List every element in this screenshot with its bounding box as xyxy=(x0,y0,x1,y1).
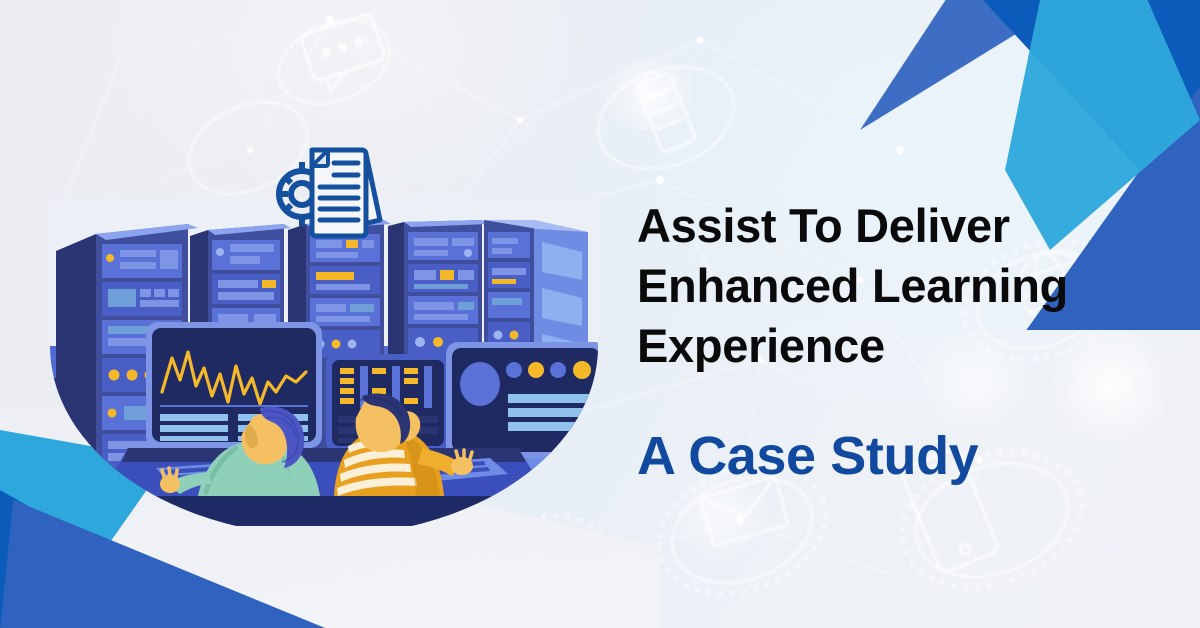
headline-line-2: Enhanced Learning xyxy=(637,256,1157,316)
headline: Assist To Deliver Enhanced Learning Expe… xyxy=(637,196,1157,376)
battery-icon xyxy=(634,67,697,153)
documents-gear-svg xyxy=(262,134,390,254)
headline-line-1: Assist To Deliver xyxy=(637,196,1157,256)
headline-line-3: Experience xyxy=(637,316,1157,376)
documents-gear-icon xyxy=(262,134,390,254)
subtitle: A Case Study xyxy=(637,424,978,488)
top-right-mid-blue-triangle xyxy=(860,0,1050,130)
case-study-banner: Assist To Deliver Enhanced Learning Expe… xyxy=(0,0,1200,628)
user-icon xyxy=(512,548,569,618)
bg-glow xyxy=(590,60,710,130)
chat-bubble-icon xyxy=(300,13,390,95)
